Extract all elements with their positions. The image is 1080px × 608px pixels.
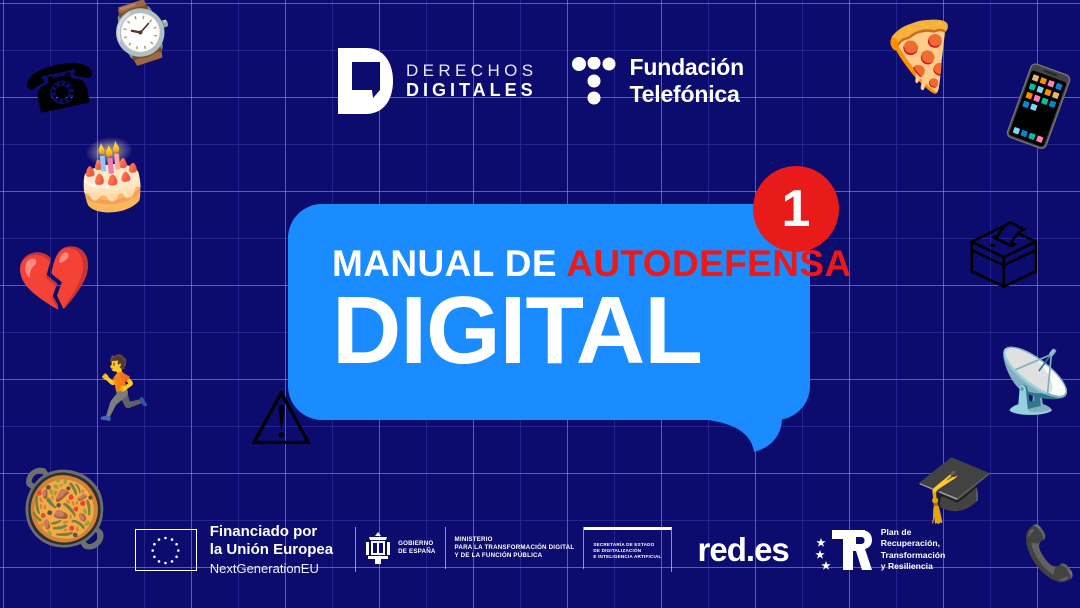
woman-running-emoji: 🏃 — [82, 358, 159, 420]
footer-logos: Financiado por la Unión Europea NextGene… — [0, 523, 1080, 576]
derechos-digitales-line1: DERECHOS — [406, 61, 538, 80]
header-logos: DERECHOS DIGITALES Fundación Telefónica — [0, 46, 1080, 116]
plan-recuperacion-line4: y Resiliencia — [881, 561, 945, 572]
eu-funding-text: Financiado por la Unión Europea NextGene… — [210, 523, 333, 576]
telefonica-dots-t-mark-icon — [572, 57, 616, 105]
broken-heart-emoji: 💔 — [13, 244, 100, 318]
fundacion-telefonica-line1: Fundación — [630, 54, 744, 81]
spain-coat-of-arms-icon — [365, 531, 391, 565]
ministerio-cell: MINISTERIOPARA LA TRANSFORMACIÓN DIGITAL… — [446, 527, 585, 569]
birthday-cake-emoji: 🎂 — [67, 138, 156, 212]
eu-funding-line1: Financiado por — [210, 523, 333, 541]
european-union-funding-logo: Financiado por la Unión Europea NextGene… — [135, 523, 333, 576]
plan-recuperacion-logo: Plan de Recuperación, Transformación y R… — [815, 527, 945, 572]
plan-recuperacion-line1: Plan de — [881, 527, 945, 538]
fundacion-telefonica-wordmark: Fundación Telefónica — [630, 54, 744, 108]
speech-bubble-tail — [708, 414, 782, 454]
satellite-antenna-emoji: 📡 — [996, 350, 1073, 412]
ministerio-label: MINISTERIOPARA LA TRANSFORMACIÓN DIGITAL… — [455, 536, 575, 561]
hero-title-line2: DIGITAL — [332, 284, 702, 378]
graduation-cap-emoji: 🎓 — [912, 451, 1000, 525]
derechos-digitales-line2: DIGITALES — [406, 80, 538, 100]
plan-recuperacion-text: Plan de Recuperación, Transformación y R… — [881, 527, 945, 572]
ballot-box-emoji: 🗳 — [962, 222, 1046, 288]
plan-recuperacion-line3: Transformación — [881, 550, 945, 561]
eu-funding-line3: NextGenerationEU — [210, 561, 333, 576]
gobierno-de-espana-cell: GOBIERNODE ESPAÑA — [356, 527, 445, 569]
fundacion-telefonica-line2: Telefónica — [630, 81, 744, 108]
hero-title-block: MANUAL DE AUTODEFENSA DIGITAL — [288, 204, 810, 420]
hero-speech-bubble: MANUAL DE AUTODEFENSA DIGITAL — [288, 204, 810, 420]
eu-stars-flag-icon — [135, 529, 197, 571]
secretaria-estado-cell: SECRETARÍA DE ESTADODE DIGITALIZACIÓNE I… — [584, 527, 671, 572]
secretaria-estado-label: SECRETARÍA DE ESTADODE DIGITALIZACIÓNE I… — [593, 542, 661, 561]
derechos-digitales-d-mark-icon — [336, 46, 394, 116]
redes-logo: red.es — [694, 531, 793, 569]
gobierno-logo-group: GOBIERNODE ESPAÑA MINISTERIOPARA LA TRAN… — [355, 527, 671, 572]
issue-number-badge: 1 — [753, 166, 839, 252]
plan-recuperacion-tr-mark-icon — [815, 528, 873, 572]
poster-canvas: ⌚☎🎂💔🏃🥘🍕📱🗳📡🎓📞⚠ DERECHOS DIGITALES — [0, 0, 1080, 608]
plan-recuperacion-line2: Recuperación, — [881, 538, 945, 549]
fundacion-telefonica-logo: Fundación Telefónica — [572, 54, 744, 108]
derechos-digitales-logo: DERECHOS DIGITALES — [336, 46, 538, 116]
eu-funding-line2: la Unión Europea — [210, 541, 333, 559]
gobierno-de-espana-label: GOBIERNODE ESPAÑA — [398, 540, 435, 557]
derechos-digitales-wordmark: DERECHOS DIGITALES — [406, 61, 538, 100]
